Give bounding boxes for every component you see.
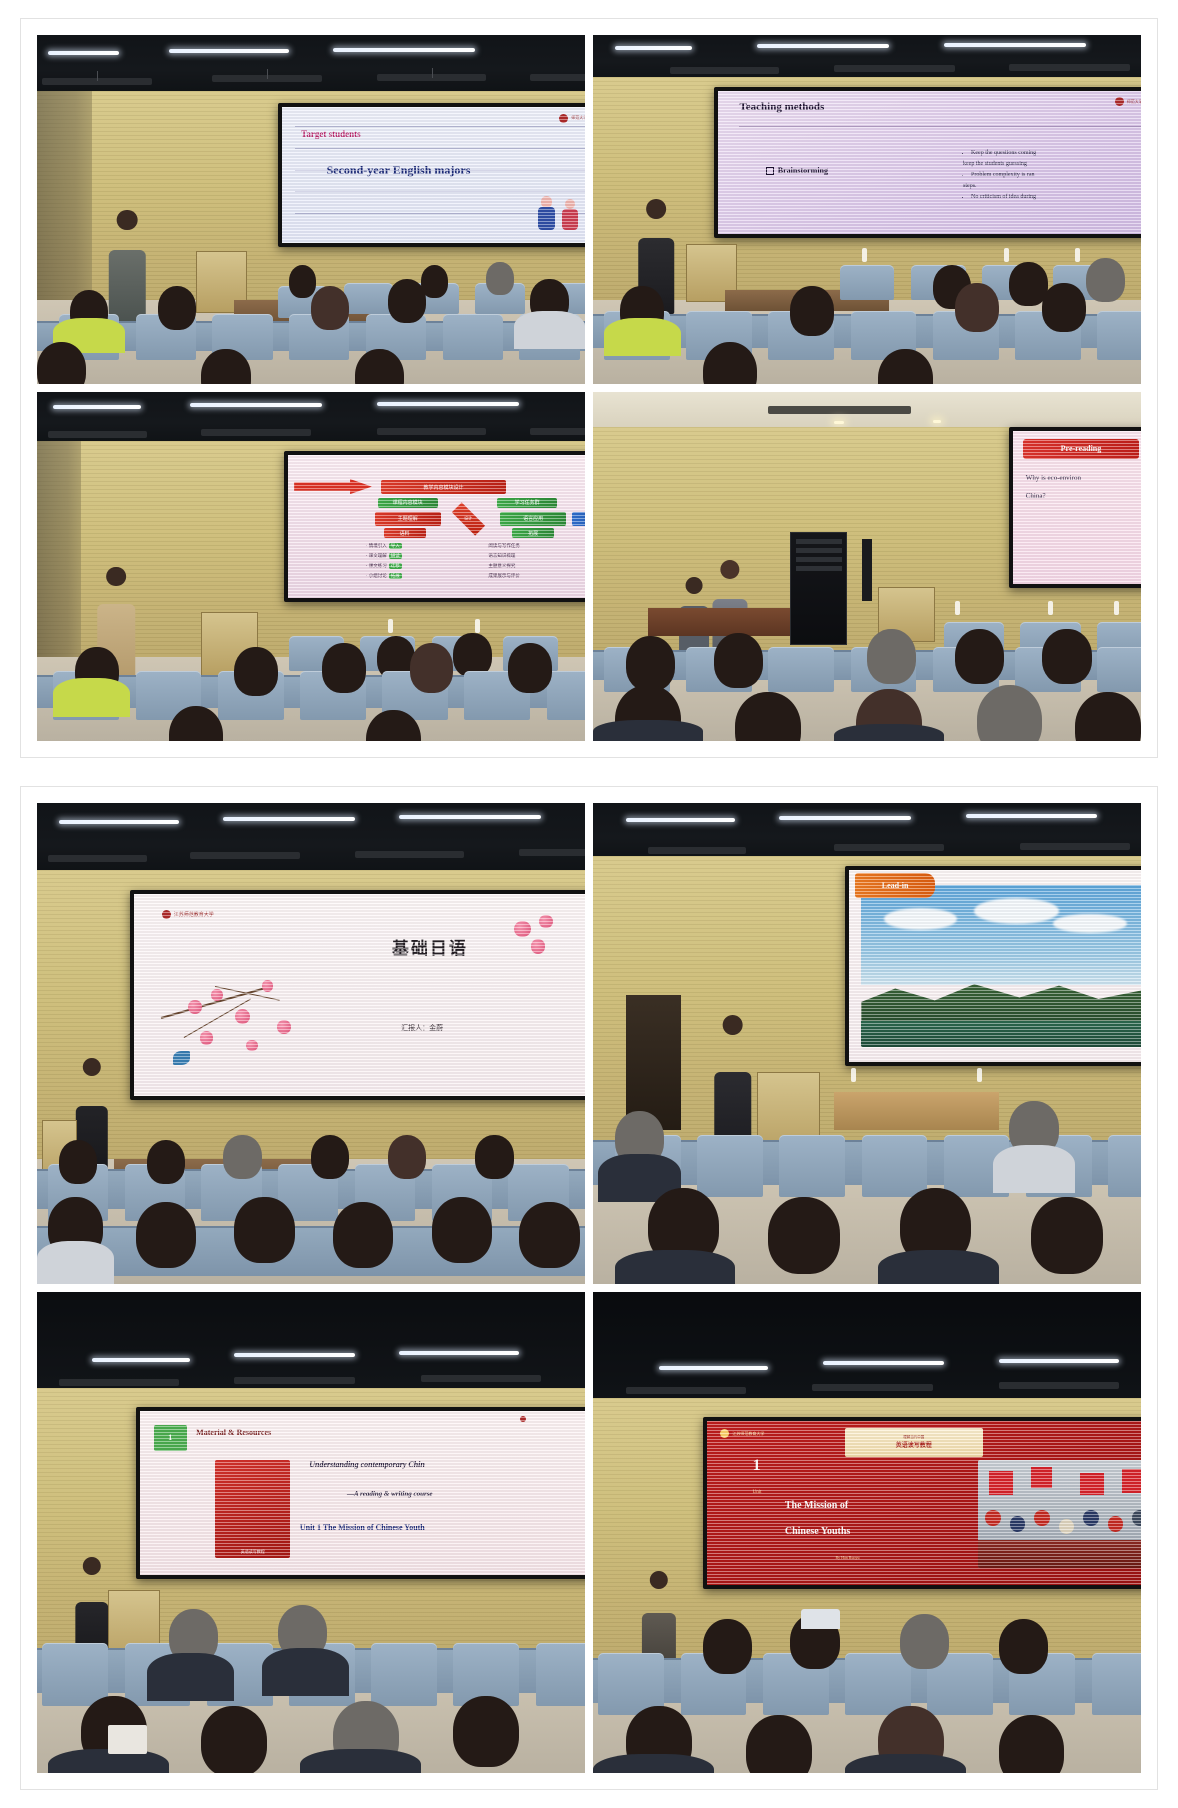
bullet-item: Problem complexity is ran bbox=[971, 171, 1036, 180]
university-logo: 江苏师范教育大学 bbox=[720, 1429, 764, 1438]
corner-blossom-art bbox=[507, 910, 581, 971]
slide-line-3: Unit 1 The Mission of Chinese Youth bbox=[300, 1523, 425, 1532]
projection-screen: 师范大学 Target students Second-year English… bbox=[278, 103, 585, 247]
wall-shadow bbox=[37, 91, 92, 307]
photo-1: 师范大学 Target students Second-year English… bbox=[37, 35, 585, 384]
slide-ribbon: Lead-in bbox=[855, 873, 935, 898]
photo-panel-2: 江苏师范教育大学 bbox=[20, 786, 1158, 1790]
projection-screen: Lead-in bbox=[845, 866, 1141, 1066]
step-badge: 1 bbox=[154, 1425, 187, 1451]
flowchart: 教学内容模块设计 课程内容模块 学习任务群 主题理解 语料 设计 语言应用 拓展 bbox=[297, 464, 585, 590]
slide-crowd-photo bbox=[978, 1460, 1141, 1568]
presenter-head bbox=[646, 199, 666, 219]
slide-presenter: 汇报人：金蔚 bbox=[401, 1023, 443, 1033]
lecture-hall-scene: 江苏师范教育大学 bbox=[37, 803, 585, 1284]
slide-heading: Material & Resources bbox=[196, 1428, 271, 1437]
checkbox-icon bbox=[766, 167, 774, 175]
flow-item-left-1: · 情境引入导入 bbox=[366, 543, 402, 549]
cloud-icon bbox=[884, 908, 957, 931]
slide-heading: Target students bbox=[301, 129, 360, 139]
flow-item-left-4: · 小组讨论拓展 bbox=[366, 573, 402, 579]
projection-screen: Pre-reading Why is eco-environ China? bbox=[1009, 427, 1141, 589]
slide-pre-reading: Pre-reading Why is eco-environ China? bbox=[1013, 431, 1141, 585]
ceiling bbox=[37, 35, 585, 98]
flow-item-right-2: 语言知识梳理 bbox=[488, 553, 515, 559]
flow-diamond: 设计 bbox=[452, 502, 485, 535]
lecture-hall-scene: Pre-reading Why is eco-environ China? bbox=[593, 392, 1141, 741]
slide-byline: By Han Ruoyu bbox=[835, 1555, 859, 1560]
photo-2: 师范大学 Teaching methods Brainstorming Keep… bbox=[593, 35, 1141, 384]
presenter bbox=[103, 210, 152, 322]
flow-box-1: 主题理解 bbox=[375, 512, 441, 526]
flow-label-right: 学习任务群 bbox=[497, 498, 557, 508]
logo-mark-icon bbox=[720, 1429, 729, 1438]
ceiling bbox=[37, 1292, 585, 1398]
slide-bullets: Keep the questions coming keep the stude… bbox=[963, 149, 1036, 204]
flow-heading: 教学内容模块设计 bbox=[381, 480, 506, 494]
projection-screen: 师范大学 Teaching methods Brainstorming Keep… bbox=[714, 87, 1141, 238]
slide-body-line-2: China? bbox=[1026, 492, 1046, 500]
photo-6: Lead-in bbox=[593, 803, 1141, 1284]
photo-7: 1 Material & Resources 英语读写教程 Understand… bbox=[37, 1292, 585, 1773]
photo-collage-page: 师范大学 Target students Second-year English… bbox=[0, 0, 1178, 1808]
slide-title-line-2: Chinese Youths bbox=[785, 1526, 850, 1537]
presenter-name: 金蔚 bbox=[429, 1024, 443, 1032]
photo-8: 江苏师范教育大学 理解当代中国 英语读写教程 Unit 1 The Missio… bbox=[593, 1292, 1141, 1773]
slide-material-resources: 1 Material & Resources 英语读写教程 Understand… bbox=[140, 1411, 585, 1575]
lecture-hall-scene: 江苏师范教育大学 理解当代中国 英语读写教程 Unit 1 The Missio… bbox=[593, 1292, 1141, 1773]
lecture-hall-scene: 师范大学 Teaching methods Brainstorming Keep… bbox=[593, 35, 1141, 384]
logo-mark-icon bbox=[520, 1416, 526, 1422]
slide-chinese-flowchart: 教学内容模块设计 课程内容模块 学习任务群 主题理解 语料 设计 语言应用 拓展 bbox=[288, 455, 585, 598]
bullet-item: steps. bbox=[963, 182, 1036, 191]
slide-line-1: Understanding contemporary Chin bbox=[309, 1460, 425, 1469]
presenter-head bbox=[83, 1058, 101, 1076]
course-badge: 理解当代中国 英语读写教程 bbox=[845, 1428, 983, 1457]
flow-diamond-label: 设计 bbox=[465, 516, 473, 522]
book-cover: 英语读写教程 bbox=[215, 1460, 290, 1558]
flow-item-right-1: 阅读与写作任务 bbox=[488, 543, 520, 549]
logo-label: 师范大学 bbox=[1127, 99, 1141, 105]
logo-mark-icon bbox=[162, 910, 171, 919]
assistant-head bbox=[686, 577, 703, 594]
presenter-head bbox=[650, 1571, 668, 1589]
university-logo: 师范大学 bbox=[559, 114, 585, 123]
projection-screen: 江苏师范教育大学 bbox=[130, 890, 585, 1100]
presenter-label: 汇报人： bbox=[401, 1024, 429, 1032]
lecture-hall-scene: 师范大学 Target students Second-year English… bbox=[37, 35, 585, 384]
presenter-body bbox=[109, 250, 145, 321]
slide-line-2: —A reading & writing course bbox=[347, 1490, 433, 1498]
lecture-hall-scene: 1 Material & Resources 英语读写教程 Understand… bbox=[37, 1292, 585, 1773]
lecture-hall-scene: 教学内容模块设计 课程内容模块 学习任务群 主题理解 语料 设计 语言应用 拓展 bbox=[37, 392, 585, 741]
speaker-column bbox=[862, 539, 873, 602]
flow-box-2: 语料 bbox=[384, 528, 426, 538]
step-number: 1 bbox=[168, 1433, 172, 1442]
ceiling bbox=[37, 803, 585, 880]
slide-subheading: Brainstorming bbox=[766, 166, 828, 175]
flow-arrow-icon bbox=[294, 479, 372, 494]
flow-item-left-2: · 课文理解研读 bbox=[366, 553, 402, 559]
ceiling bbox=[37, 392, 585, 448]
logo-mark-icon bbox=[1115, 97, 1124, 106]
desk bbox=[648, 608, 790, 636]
presenter-head bbox=[720, 560, 739, 579]
slide-mission-title: 江苏师范教育大学 理解当代中国 英语读写教程 Unit 1 The Missio… bbox=[707, 1421, 1141, 1585]
bullet-item: No criticism of idea during bbox=[971, 193, 1036, 202]
unit-number: 1 bbox=[753, 1457, 761, 1475]
slide-lead-in: Lead-in bbox=[849, 870, 1141, 1062]
university-logo bbox=[520, 1416, 526, 1422]
slide-body: Second-year English majors bbox=[327, 163, 471, 178]
cloud-icon bbox=[974, 898, 1059, 924]
course-badge-label: 英语读写教程 bbox=[896, 1440, 932, 1449]
bullet-item: keep the students guessing bbox=[963, 160, 1036, 169]
slide-title: 基础日语 bbox=[392, 934, 468, 959]
photo-5: 江苏师范教育大学 bbox=[37, 803, 585, 1284]
flow-box-5: 输出 bbox=[572, 512, 585, 526]
unit-label: Unit bbox=[753, 1490, 762, 1495]
slide-heading: Teaching methods bbox=[739, 101, 824, 113]
ceiling bbox=[593, 1292, 1141, 1407]
server-rack bbox=[790, 532, 847, 646]
logo-label: 江苏师范教育大学 bbox=[174, 911, 214, 918]
slide-target-students: 师范大学 Target students Second-year English… bbox=[282, 107, 585, 243]
logo-label: 江苏师范教育大学 bbox=[732, 1431, 764, 1437]
slide-body-line-1: Why is eco-environ bbox=[1026, 474, 1081, 482]
logo-mark-icon bbox=[559, 114, 568, 123]
slide-ribbon: Pre-reading bbox=[1023, 439, 1140, 459]
bullet-item: Keep the questions coming bbox=[971, 149, 1036, 158]
projection-screen: 江苏师范教育大学 理解当代中国 英语读写教程 Unit 1 The Missio… bbox=[703, 1417, 1141, 1589]
lecture-hall-scene: Lead-in bbox=[593, 803, 1141, 1284]
plum-blossom-art bbox=[157, 938, 350, 1079]
presenter-head bbox=[83, 1557, 101, 1575]
flow-item-right-4: 成果展示与评价 bbox=[488, 573, 520, 579]
university-logo: 师范大学 bbox=[1115, 97, 1141, 106]
flow-item-left-3: · 课文练习迁移 bbox=[366, 563, 402, 569]
photo-panel-1: 师范大学 Target students Second-year English… bbox=[20, 18, 1158, 758]
university-logo: 江苏师范教育大学 bbox=[162, 910, 214, 919]
slide-teaching-methods: 师范大学 Teaching methods Brainstorming Keep… bbox=[718, 91, 1141, 234]
photo-4: Pre-reading Why is eco-environ China? bbox=[593, 392, 1141, 741]
projection-screen: 1 Material & Resources 英语读写教程 Understand… bbox=[136, 1407, 585, 1579]
flow-box-4: 拓展 bbox=[512, 528, 554, 538]
flow-item-right-3: 主题意义探究 bbox=[488, 563, 515, 569]
flow-box-3: 语言应用 bbox=[500, 512, 566, 526]
desk bbox=[834, 1092, 998, 1130]
photo-3: 教学内容模块设计 课程内容模块 学习任务群 主题理解 语料 设计 语言应用 拓展 bbox=[37, 392, 585, 741]
slide-title-line-1: The Mission of bbox=[785, 1500, 848, 1511]
presenter-head bbox=[722, 1015, 743, 1036]
logo-label: 师范大学 bbox=[571, 115, 585, 121]
presenter-head bbox=[107, 567, 127, 587]
slide-photo bbox=[861, 885, 1141, 1047]
photo-grid-2: 江苏师范教育大学 bbox=[37, 803, 1141, 1773]
photo-grid-1: 师范大学 Target students Second-year English… bbox=[37, 35, 1141, 741]
projection-screen: 教学内容模块设计 课程内容模块 学习任务群 主题理解 语料 设计 语言应用 拓展 bbox=[284, 451, 585, 602]
flow-label-left: 课程内容模块 bbox=[378, 498, 438, 508]
slide-clipart bbox=[536, 191, 577, 232]
slide-japanese-title: 江苏师范教育大学 bbox=[134, 894, 585, 1096]
presenter-head bbox=[117, 210, 138, 231]
wall-shadow bbox=[37, 441, 81, 657]
cabinet bbox=[626, 995, 681, 1130]
book-label: 英语读写教程 bbox=[241, 1549, 265, 1555]
